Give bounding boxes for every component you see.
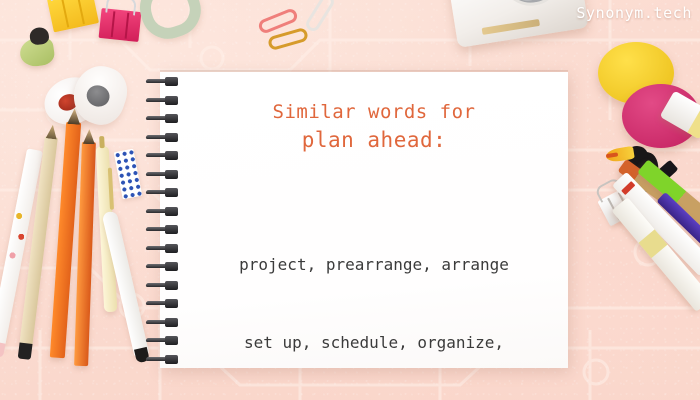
- spiral-ring: [146, 152, 180, 159]
- similar-words-heading: Similar words for: [273, 98, 476, 126]
- spiral-ring: [146, 245, 180, 252]
- spiral-ring: [146, 189, 180, 196]
- spiral-ring: [146, 337, 180, 344]
- spiral-ring: [146, 134, 180, 141]
- query-term: plan ahead:: [302, 126, 447, 154]
- synonym-row: set up, schedule, organize,: [239, 330, 509, 356]
- spiral-ring: [146, 226, 180, 233]
- spiral-ring: [146, 356, 180, 363]
- spiral-ring: [146, 319, 180, 326]
- spiral-ring: [146, 171, 180, 178]
- spiral-ring: [146, 97, 180, 104]
- synonym-list: project, prearrange, arrange set up, sch…: [239, 200, 509, 400]
- binder-clip-pink-icon: [99, 8, 142, 42]
- notecard-content: Similar words for plan ahead: project, p…: [186, 72, 562, 368]
- spiral-ring: [146, 263, 180, 270]
- spiral-ring: [146, 300, 180, 307]
- spiral-ring: [146, 115, 180, 122]
- site-watermark: Synonym.tech: [576, 4, 692, 22]
- spiral-binding: [146, 78, 182, 368]
- spiral-ring: [146, 282, 180, 289]
- spiral-ring: [146, 208, 180, 215]
- spiral-ring: [146, 78, 180, 85]
- synonym-row: project, prearrange, arrange: [239, 252, 509, 278]
